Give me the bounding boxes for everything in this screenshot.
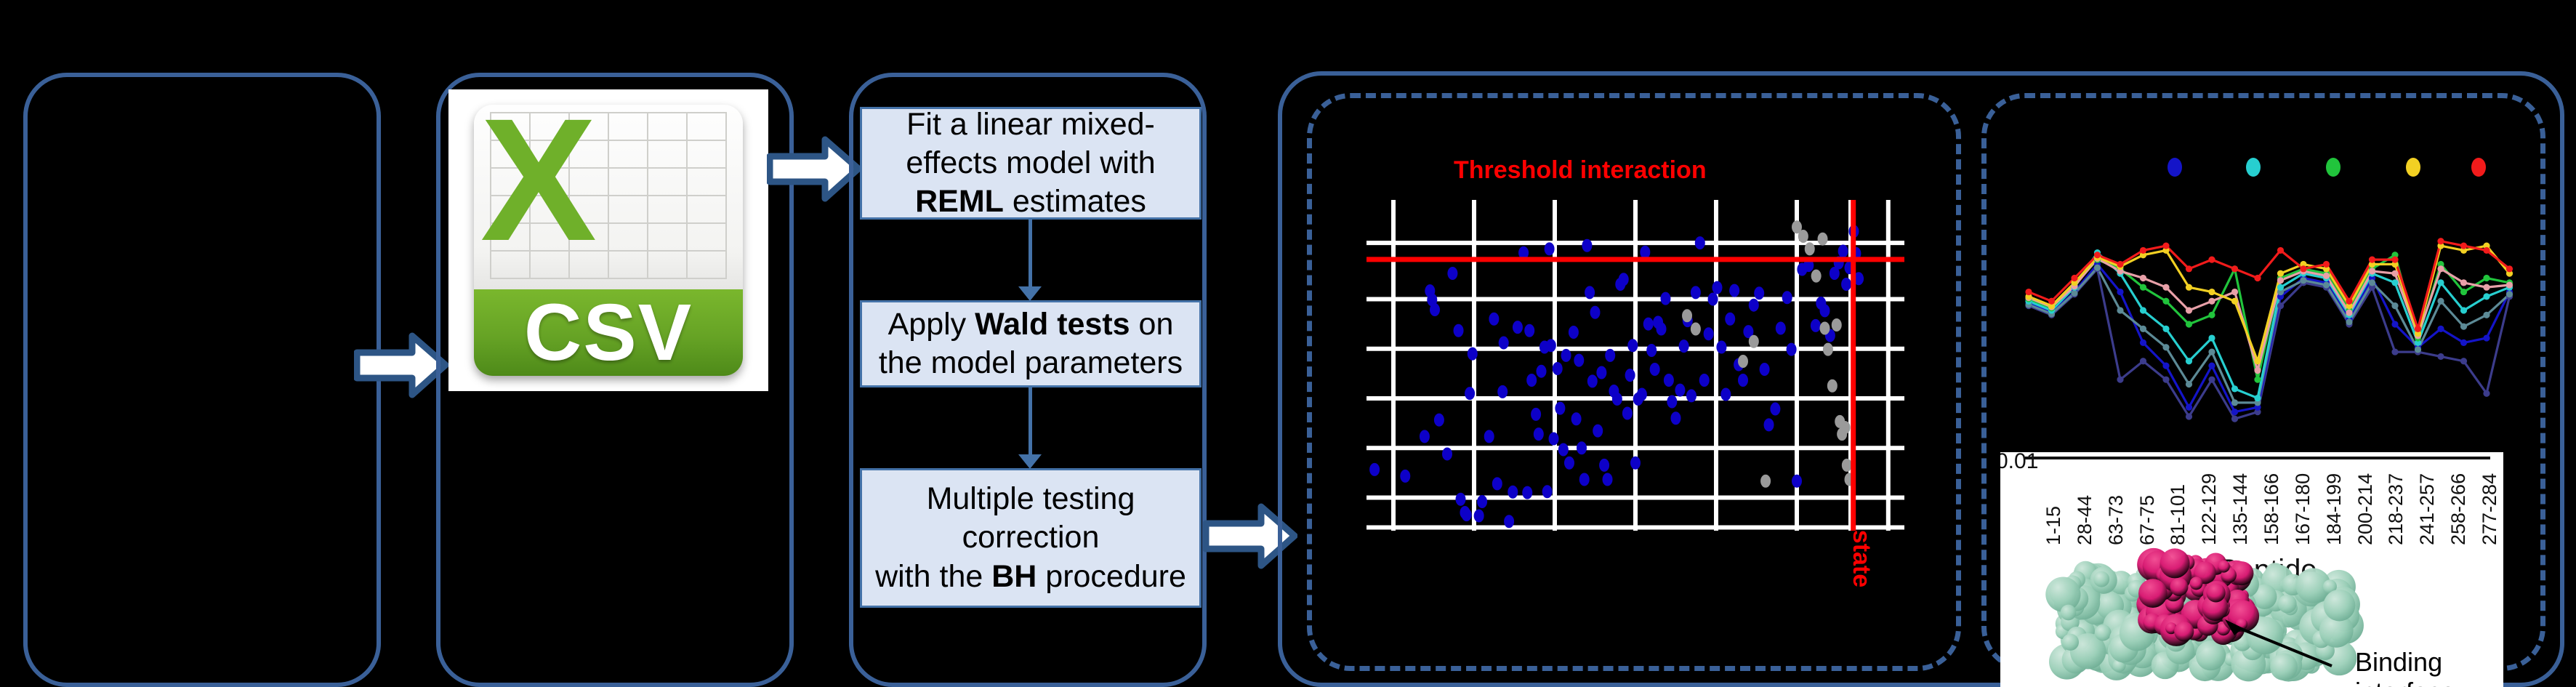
connector-arrowhead-wald [1018, 286, 1042, 301]
csv-icon-tile: X CSV [474, 105, 743, 377]
peptide-tick-label: 184-199 [2323, 473, 2346, 545]
peptide-tick-label: 167-180 [2292, 473, 2314, 545]
csv-icon-sheet: X [474, 105, 743, 289]
peptide-tick-label: 1-15 [2042, 506, 2065, 545]
peptide-chart-legend [2013, 145, 2522, 189]
peptide-tick-label: 258-266 [2447, 473, 2470, 545]
peptide-axis-and-structure-card: 0.01 1-1528-4463-7367-7581-101122-129135… [2000, 452, 2503, 687]
peptide-tick-label: 63-73 [2105, 495, 2128, 545]
binding-interface-line-2: interface [2355, 677, 2455, 687]
connector-arrowhead-bh [1018, 454, 1042, 469]
threshold-scatter-chart: Threshold interaction Threshold state [1367, 156, 1919, 534]
binding-interface-annotation: Binding interface [2355, 647, 2455, 687]
csv-format-band: CSV [474, 289, 743, 377]
peptide-tick-label: 122-129 [2198, 473, 2221, 545]
peptide-tick-label: 218-237 [2385, 473, 2407, 545]
peptide-tick-label: 200-214 [2354, 473, 2377, 545]
scatter-chart-title: Threshold interaction [1454, 156, 1707, 185]
arrow-data-to-model [767, 134, 861, 204]
pipeline-diagram: X CSV Fit a linear mixed-effects model w… [0, 0, 2576, 687]
peptide-tick-labels: 1-1528-4463-7367-7581-101122-129135-1441… [2025, 459, 2490, 554]
peptide-tick-label: 277-284 [2479, 473, 2501, 545]
process-step-reml-text: Fit a linear mixed-effects model withREM… [906, 105, 1155, 222]
process-step-wald-text: Apply Wald tests onthe model parameters [879, 305, 1183, 383]
excel-x-letter: X [480, 105, 598, 208]
csv-format-label: CSV [524, 286, 693, 376]
peptide-tick-label: 28-44 [2074, 495, 2096, 545]
scatter-plot-area [1367, 200, 1904, 531]
process-step-bh: Multiple testingcorrectionwith the BH pr… [860, 468, 1202, 608]
process-step-wald: Apply Wald tests onthe model parameters [860, 300, 1202, 387]
pipeline-panel-input [23, 73, 381, 687]
peptide-tick-label: 67-75 [2136, 495, 2159, 545]
connector-wald-to-bh [1029, 387, 1032, 454]
peptide-line-chart [2013, 145, 2522, 458]
peptide-tick-label: 135-144 [2229, 473, 2252, 545]
peptide-plot-area [2013, 185, 2522, 436]
process-step-bh-text: Multiple testingcorrectionwith the BH pr… [875, 480, 1186, 596]
process-step-reml: Fit a linear mixed-effects model withREM… [860, 107, 1202, 220]
csv-file-icon: X CSV [448, 89, 768, 391]
binding-interface-line-1: Binding [2355, 647, 2455, 677]
connector-reml-to-wald [1029, 220, 1032, 286]
peptide-tick-label: 81-101 [2167, 484, 2189, 545]
peptide-tick-label: 241-257 [2416, 473, 2439, 545]
peptide-tick-label: 158-166 [2261, 473, 2283, 545]
arrow-input-to-data [354, 331, 448, 400]
